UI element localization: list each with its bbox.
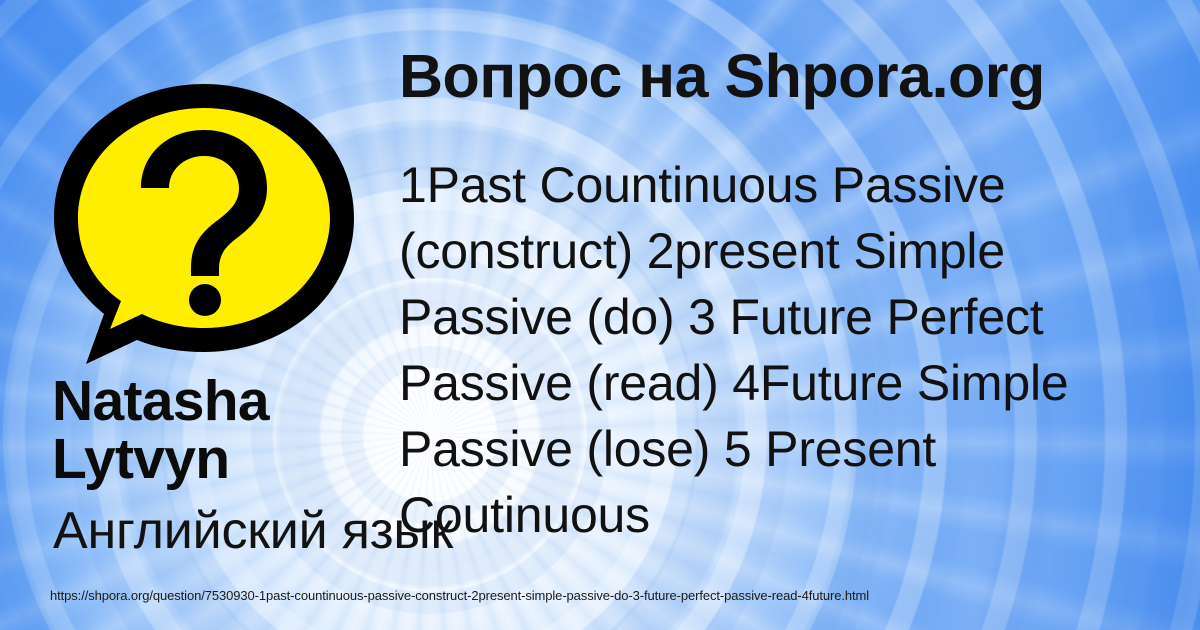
question-text: 1Past Countinuous Passive (construct) 2p…	[399, 152, 1119, 548]
question-speech-bubble-icon	[48, 78, 360, 364]
page-title: Вопрос на Shpora.org	[399, 44, 1099, 108]
author-name: Natasha Lytvyn	[52, 372, 402, 488]
subject-label: Английский язык	[53, 502, 523, 560]
question-mark-dot	[189, 284, 221, 316]
source-url[interactable]: https://shpora.org/question/7530930-1pas…	[50, 588, 869, 604]
share-card: Вопрос на Shpora.org 1Past Countinuous P…	[0, 0, 1200, 630]
